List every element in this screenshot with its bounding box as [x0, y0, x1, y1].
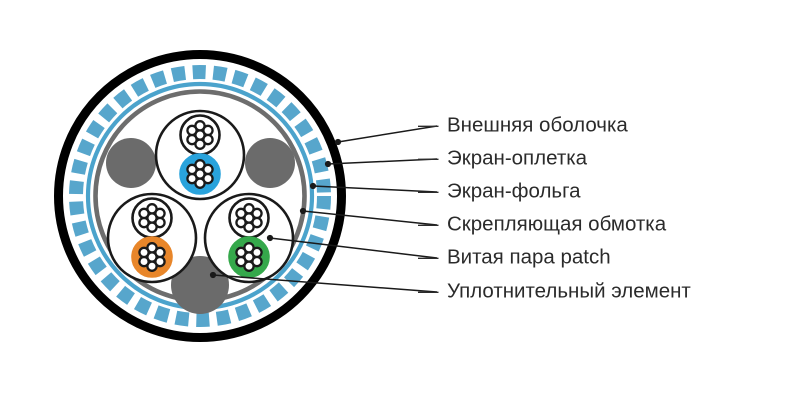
legend-dash-filler-element: — — [418, 279, 439, 302]
legend-item-filler-element: — Уплотнительный элемент — [418, 279, 691, 302]
pair-green-conductor-white — [230, 199, 269, 238]
legend-dash-braid-screen: — — [418, 146, 439, 169]
legend-item-binding-tape: — Скрепляющая обмотка — [418, 212, 667, 235]
legend-dash-twisted-pair: — — [418, 245, 439, 268]
legend-label-foil-screen: Экран-фольга — [447, 179, 581, 202]
legend-label-outer-jacket: Внешняя оболочка — [447, 113, 628, 136]
pair-blue-conductor-white — [181, 116, 220, 155]
twisted-pair-green — [205, 194, 293, 282]
legend-item-outer-jacket: — Внешняя оболочка — [418, 113, 628, 136]
filler-right-element — [245, 138, 295, 188]
twisted-pair-orange — [108, 194, 196, 282]
twisted-pair-blue — [156, 111, 244, 199]
legend-dash-binding-tape: — — [418, 212, 439, 235]
legend-item-braid-screen: — Экран-оплетка — [418, 146, 588, 169]
legend-label-filler-element: Уплотнительный элемент — [447, 279, 691, 302]
legend-label-braid-screen: Экран-оплетка — [447, 146, 588, 169]
diagram-canvas: — Внешняя оболочка — Экран-оплетка — Экр… — [0, 0, 803, 410]
legend-label-twisted-pair: Витая пара patch — [447, 245, 611, 268]
pair-orange-conductor-colored — [133, 238, 172, 277]
cable-cross-section-diagram: — Внешняя оболочка — Экран-оплетка — Экр… — [0, 0, 803, 410]
legend: — Внешняя оболочка — Экран-оплетка — Экр… — [418, 113, 691, 302]
filler-left-element — [106, 138, 156, 188]
pair-blue-conductor-colored — [181, 155, 220, 194]
pair-green-conductor-colored — [230, 238, 269, 277]
legend-dash-outer-jacket: — — [418, 113, 439, 136]
legend-dash-foil-screen: — — [418, 179, 439, 202]
pair-orange-conductor-white — [133, 199, 172, 238]
legend-item-foil-screen: — Экран-фольга — [418, 179, 581, 202]
legend-label-binding-tape: Скрепляющая обмотка — [447, 212, 667, 235]
legend-item-twisted-pair: — Витая пара patch — [418, 245, 611, 268]
